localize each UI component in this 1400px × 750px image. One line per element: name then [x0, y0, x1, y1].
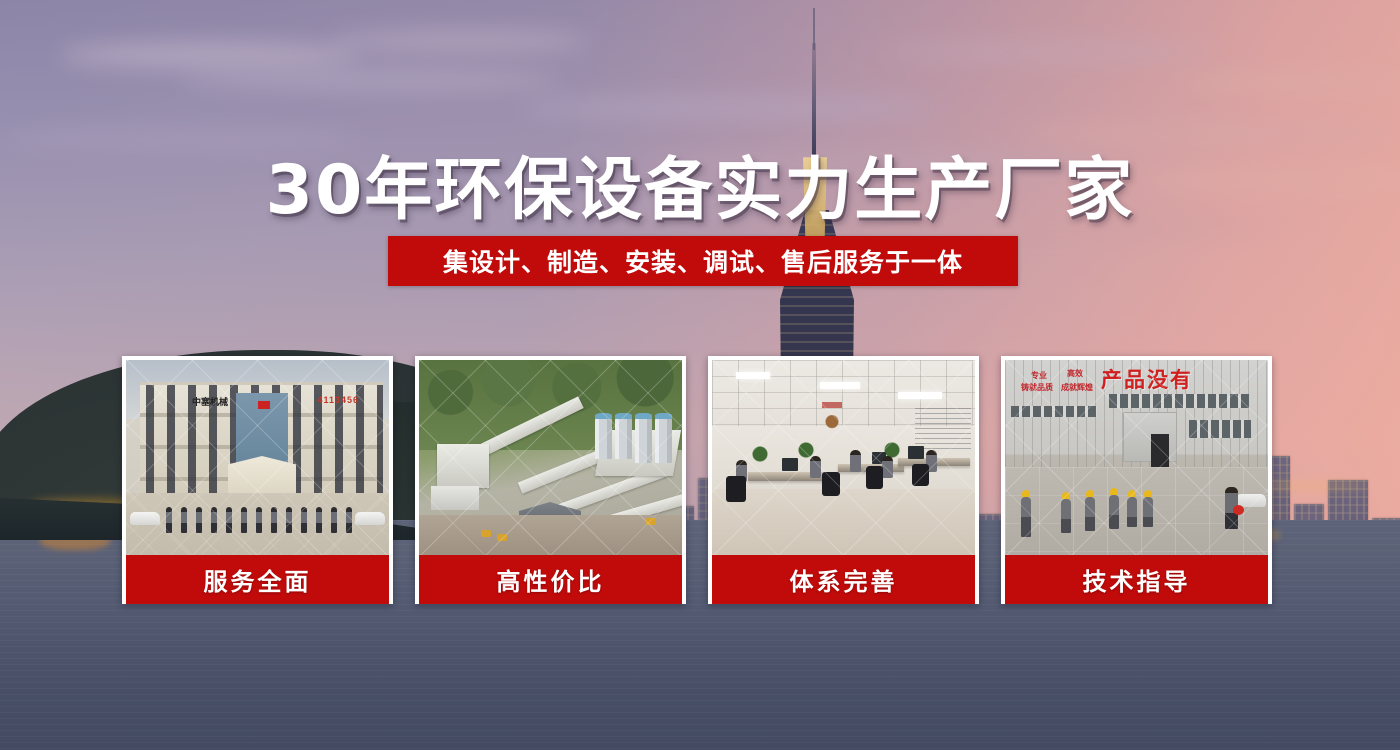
subtitle-text: 集设计、制造、安装、调试、售后服务于一体	[443, 243, 963, 279]
card-caption-band: 服务全面	[126, 555, 389, 604]
cloud-shape	[520, 95, 940, 121]
cloud-shape	[880, 40, 1210, 64]
feature-card[interactable]: 高性价比	[415, 356, 686, 604]
page-title: 30年环保设备实力生产厂家	[0, 134, 1400, 233]
company-headquarters-photo: 中塞机械 4113456	[126, 360, 389, 555]
card-caption-text: 高性价比	[497, 562, 605, 597]
hero-banner: 30年环保设备实力生产厂家 集设计、制造、安装、调试、售后服务于一体 中塞机械 …	[0, 0, 1400, 750]
factory-slogan-text: 铸就品质	[1021, 382, 1053, 393]
feature-card[interactable]: 中塞机械 4113456	[122, 356, 393, 604]
card-caption-text: 技术指导	[1083, 562, 1191, 597]
card-caption-band: 技术指导	[1005, 555, 1268, 604]
card-caption-text: 服务全面	[204, 562, 312, 597]
factory-slogan-text: 专业	[1031, 370, 1047, 381]
building-sign-text: 中塞机械	[192, 395, 228, 408]
feature-card-list: 中塞机械 4113456	[122, 356, 1277, 604]
cloud-shape	[330, 30, 590, 52]
tower-spire-tip	[813, 8, 815, 50]
building-phone-text: 4113456	[317, 395, 359, 405]
cloud-shape	[1180, 72, 1400, 92]
cloud-shape	[60, 42, 360, 68]
card-caption-text: 体系完善	[790, 562, 898, 597]
cloud-shape	[180, 70, 560, 90]
factory-slogan-text: 成就辉煌	[1061, 382, 1093, 393]
technical-training-photo: 产品没有 专业 高效 铸就品质 成就辉煌	[1005, 360, 1268, 555]
card-caption-band: 高性价比	[419, 555, 682, 604]
subtitle-banner: 集设计、制造、安装、调试、售后服务于一体	[388, 236, 1018, 286]
office-interior-photo	[712, 360, 975, 555]
factory-wall-text: 产品没有	[1101, 364, 1261, 390]
card-caption-band: 体系完善	[712, 555, 975, 604]
production-plant-aerial-photo	[419, 360, 682, 555]
feature-card[interactable]: 体系完善	[708, 356, 979, 604]
feature-card[interactable]: 产品没有 专业 高效 铸就品质 成就辉煌	[1001, 356, 1272, 604]
factory-slogan-text: 高效	[1067, 368, 1083, 379]
